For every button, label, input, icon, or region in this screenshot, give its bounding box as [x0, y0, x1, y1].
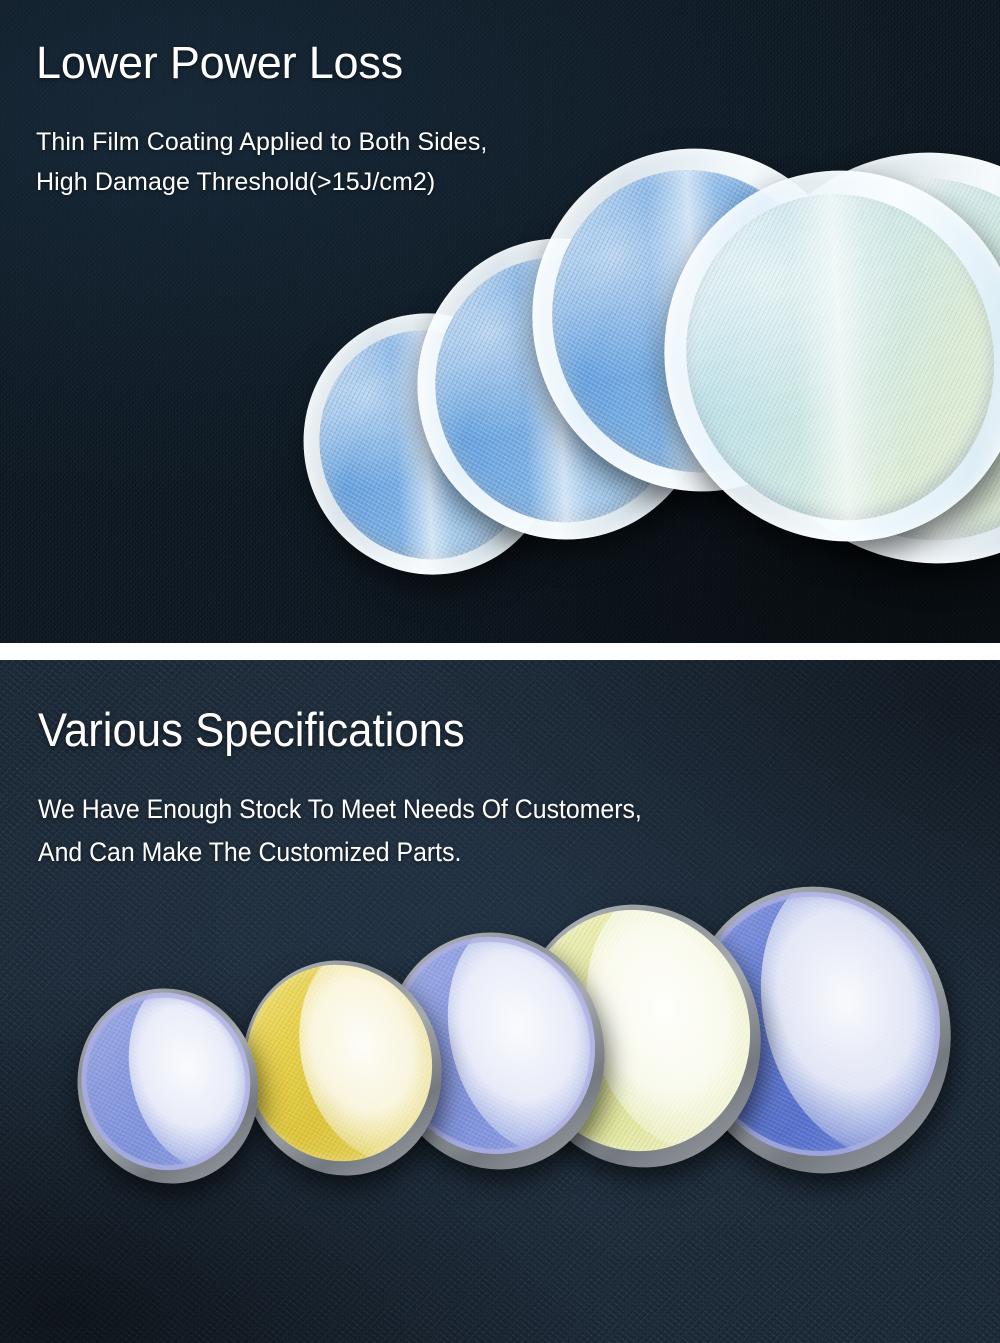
panel-separator — [0, 643, 1000, 660]
subtitle-line-1: Thin Film Coating Applied to Both Sides, — [36, 122, 487, 162]
marketing-banner: Lower Power Loss Thin Film Coating Appli… — [0, 0, 1000, 1343]
panel-lower-power-loss: Lower Power Loss Thin Film Coating Appli… — [0, 0, 1000, 643]
panel-subtitle: We Have Enough Stock To Meet Needs Of Cu… — [38, 788, 642, 874]
panel-various-specifications: Various Specifications We Have Enough St… — [0, 660, 1000, 1343]
subtitle-line-1: We Have Enough Stock To Meet Needs Of Cu… — [38, 788, 642, 831]
subtitle-line-2: High Damage Threshold(>15J/cm2) — [36, 162, 487, 202]
panel-title: Lower Power Loss — [36, 38, 403, 88]
panel-subtitle: Thin Film Coating Applied to Both Sides,… — [36, 122, 487, 202]
subtitle-line-2: And Can Make The Customized Parts. — [38, 831, 642, 874]
panel-title: Various Specifications — [38, 704, 465, 756]
